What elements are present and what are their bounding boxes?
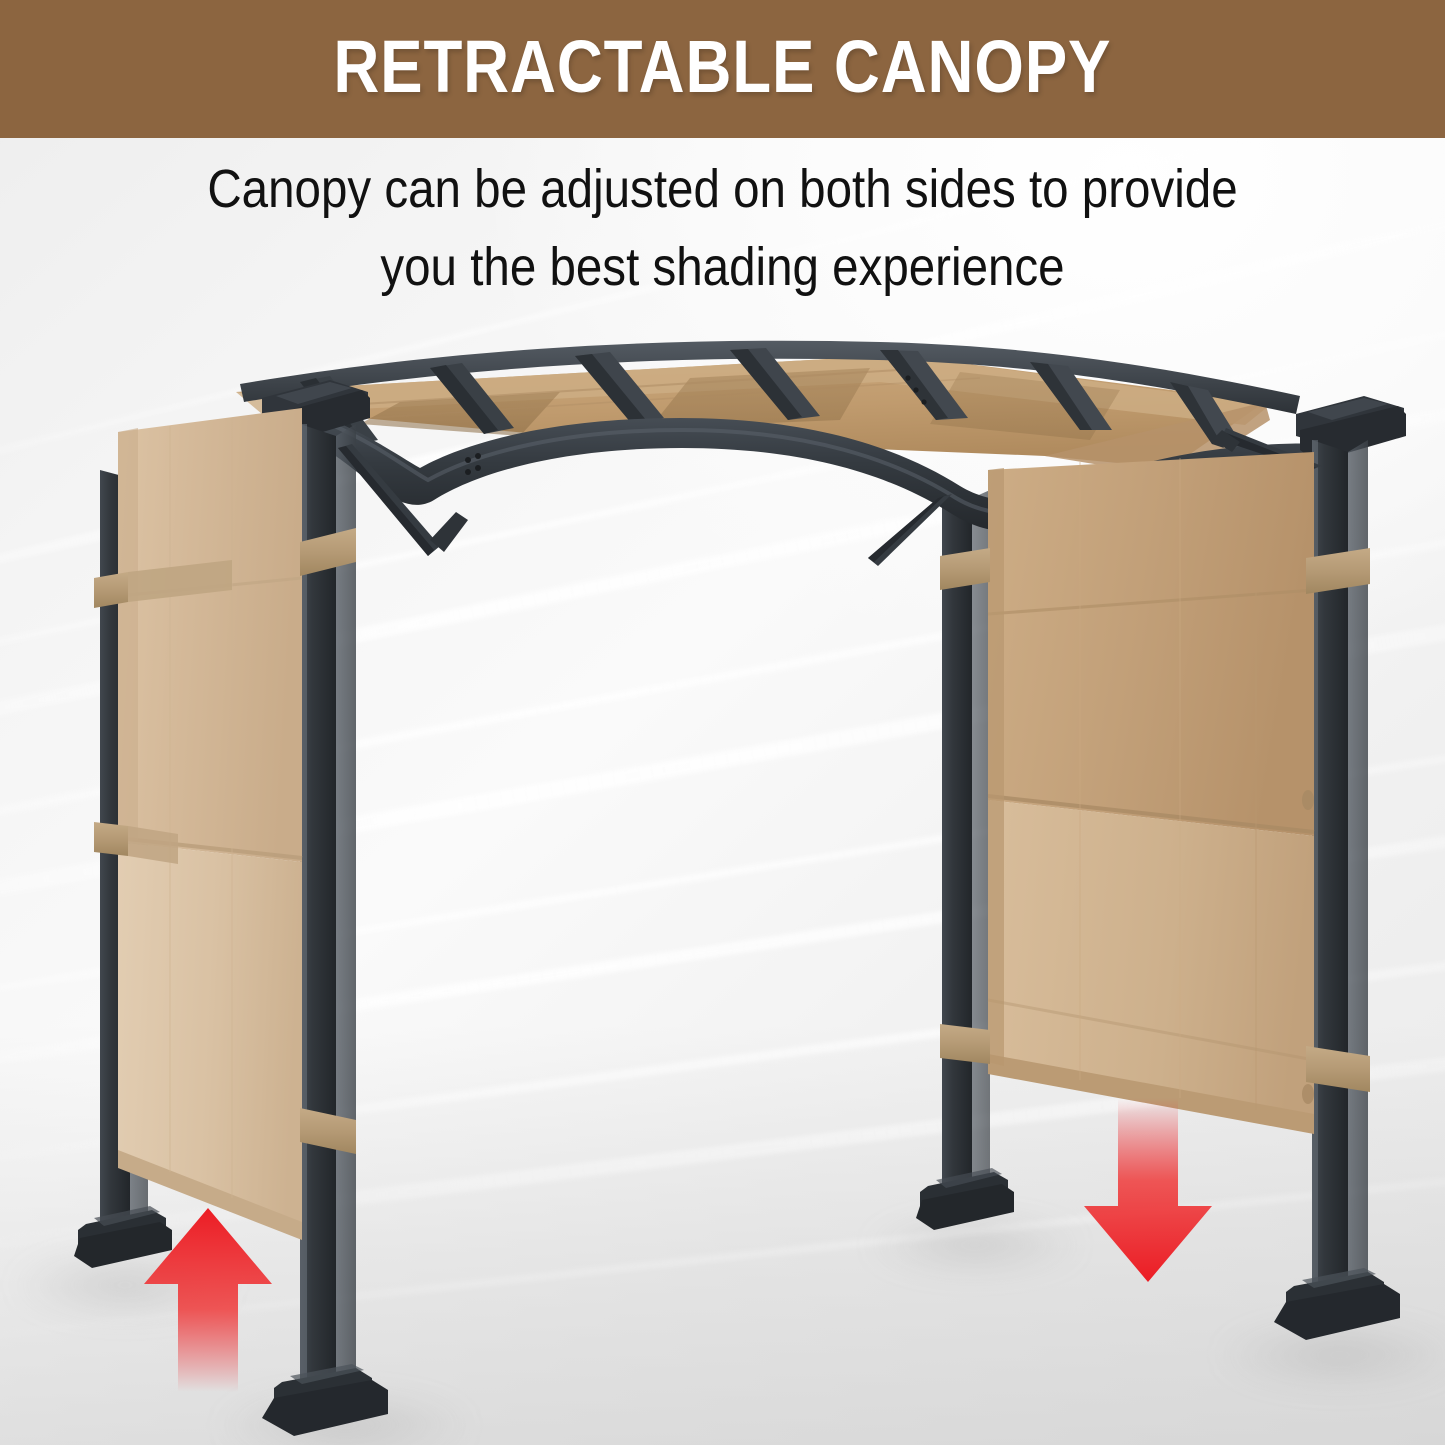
subtitle-line-1: Canopy can be adjusted on both sides to … — [87, 150, 1359, 228]
header-banner: RETRACTABLE CANOPY — [0, 0, 1445, 138]
brace-center — [868, 494, 952, 566]
page-title: RETRACTABLE CANOPY — [333, 30, 1111, 108]
side-panel-fabric-left — [118, 408, 302, 1240]
fabric-strap-centerpost-lower — [940, 1024, 990, 1064]
extend-down-arrow — [1084, 1098, 1212, 1282]
product-feature-image: RETRACTABLE CANOPY Canopy can be adjuste… — [0, 0, 1445, 1445]
subtitle-line-2: you the best shading experience — [87, 228, 1359, 306]
side-panel-fabric-right — [988, 452, 1314, 1134]
subtitle-block: Canopy can be adjusted on both sides to … — [0, 150, 1445, 306]
